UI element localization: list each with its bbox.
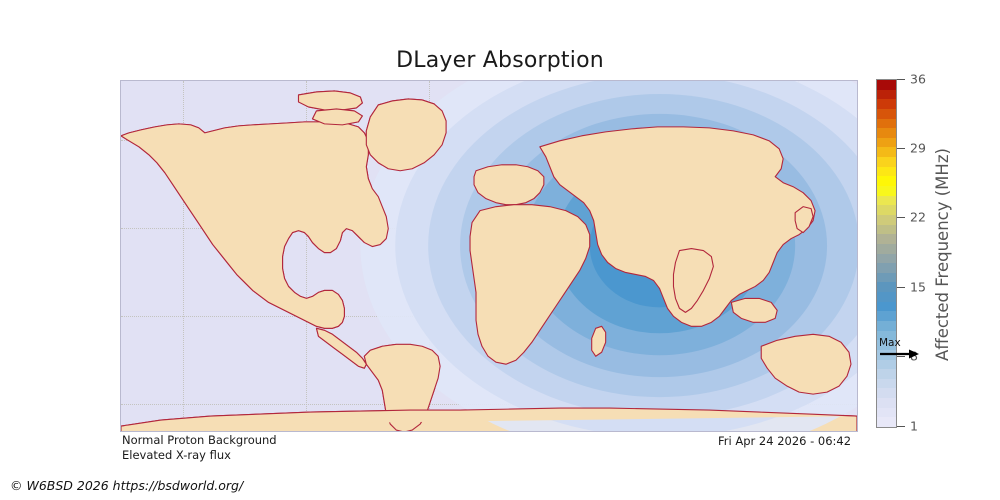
map-status-captions: Normal Proton Background Elevated X-ray … (122, 433, 277, 463)
colorbar-band (877, 214, 896, 224)
page-title: DLayer Absorption (0, 48, 1000, 73)
tick-label: 22 (910, 210, 926, 225)
absorption-rings (360, 81, 857, 432)
colorbar-band (877, 89, 896, 99)
colorbar-band (877, 234, 896, 244)
arrow-right-icon (879, 348, 921, 360)
colorbar-axis-label: Affected Frequency (MHz) (930, 79, 956, 430)
tick-label: 36 (910, 71, 926, 86)
colorbar-band (877, 253, 896, 263)
colorbar-gradient[interactable] (876, 79, 897, 428)
colorbar-band (877, 368, 896, 378)
colorbar-band (877, 407, 896, 417)
map-panel[interactable] (120, 80, 858, 432)
map-timestamp: Fri Apr 24 2026 - 06:42 (718, 434, 851, 448)
tick-label: 15 (910, 279, 926, 294)
status-xray-flux: Elevated X-ray flux (122, 448, 277, 463)
tick-mark (897, 426, 905, 427)
page-root: DLayer Absorption (0, 0, 1000, 500)
status-proton-background: Normal Proton Background (122, 433, 277, 448)
colorbar-max-marker: Max (879, 337, 923, 361)
colorbar-band (877, 118, 896, 128)
absorption-band-9-peak (624, 212, 696, 280)
copyright-footer: © W6BSD 2026 https://bsdworld.org/ (10, 478, 243, 493)
colorbar-band (877, 79, 896, 89)
colorbar-band (877, 301, 896, 311)
colorbar-band (877, 195, 896, 205)
colorbar-band (877, 185, 896, 195)
colorbar-band (877, 137, 896, 147)
colorbar-band (877, 417, 896, 427)
colorbar-band (877, 224, 896, 234)
map-canvas (121, 81, 857, 431)
tick-label: 29 (910, 140, 926, 155)
colorbar-band (877, 262, 896, 272)
colorbar-band (877, 176, 896, 186)
absorption-contour-layer (121, 81, 857, 432)
colorbar[interactable] (876, 79, 897, 428)
colorbar-band (877, 320, 896, 330)
tick-mark (897, 287, 905, 288)
colorbar-band (877, 378, 896, 388)
colorbar-band (877, 128, 896, 138)
tick-mark (897, 79, 905, 80)
colorbar-band (877, 388, 896, 398)
tick-mark (897, 217, 905, 218)
colorbar-band (877, 205, 896, 215)
colorbar-band (877, 291, 896, 301)
colorbar-band (877, 99, 896, 109)
colorbar-band (877, 282, 896, 292)
tick-mark (897, 148, 905, 149)
colorbar-band (877, 166, 896, 176)
colorbar-band (877, 108, 896, 118)
colorbar-band (877, 147, 896, 157)
colorbar-band (877, 311, 896, 321)
colorbar-band (877, 156, 896, 166)
colorbar-band (877, 243, 896, 253)
colorbar-band (877, 397, 896, 407)
tick-label: 1 (910, 418, 918, 433)
colorbar-band (877, 272, 896, 282)
